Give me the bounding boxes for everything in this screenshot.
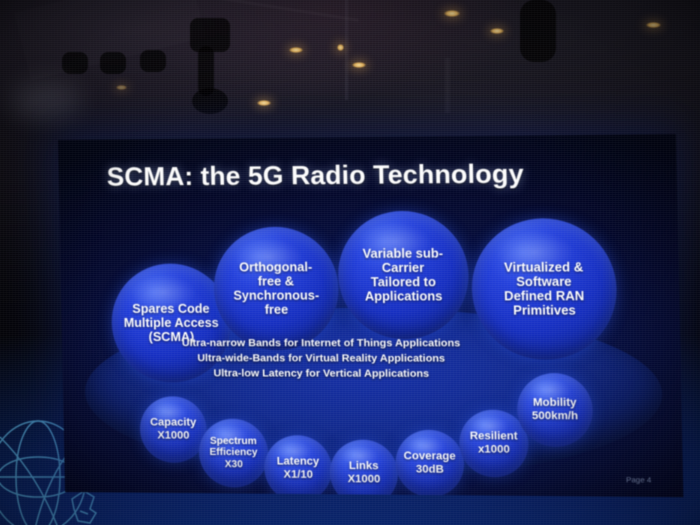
bubble-mobility[interactable]: Mobility 500km/h	[516, 373, 593, 447]
bubble-label: Links X1000	[340, 460, 388, 486]
bubble-virtualized-software-defined-ran[interactable]: Virtualized & Software Defined RAN Primi…	[470, 218, 618, 360]
center-applications-text: Ultra-narrow Bands for Internet of Thing…	[152, 336, 491, 383]
bubble-label: Virtualized & Software Defined RAN Primi…	[496, 260, 592, 319]
bubble-label: Mobility 500km/h	[524, 397, 585, 423]
bubble-capacity[interactable]: Capacity X1000	[139, 396, 207, 463]
bubble-coverage[interactable]: Coverage 30dB	[395, 430, 465, 497]
bubble-label: Resilient x1000	[462, 431, 525, 457]
slide-page-number: Page 4	[626, 475, 651, 484]
center-text-line-2: Ultra-wide-Bands for Virtual Reality App…	[153, 351, 492, 367]
bubble-label: Coverage 30dB	[396, 451, 463, 477]
center-text-line-3: Ultra-low Latency for Vertical Applicati…	[153, 367, 492, 383]
center-text-line-1: Ultra-narrow Bands for Internet of Thing…	[152, 336, 491, 352]
bubble-variable-subcarrier[interactable]: Variable sub- Carrier Tailored to Applic…	[337, 211, 470, 340]
bubble-label: Spectrum Efficiency X30	[202, 436, 265, 471]
projected-slide: SCMA: the 5G Radio Technology Spares Cod…	[58, 134, 683, 497]
slide-title: SCMA: the 5G Radio Technology	[106, 158, 524, 193]
bubble-label: Latency X1/10	[269, 456, 326, 482]
bubble-spectrum-efficiency[interactable]: Spectrum Efficiency X30	[198, 419, 268, 488]
bubble-label: Variable sub- Carrier Tailored to Applic…	[355, 246, 451, 304]
bubble-label: Capacity X1000	[143, 417, 204, 443]
bubble-orthogonal-free[interactable]: Orthogonal- free & Synchronous- free	[213, 227, 340, 351]
conference-slide-photo: SCMA: the 5G Radio Technology Spares Cod…	[0, 0, 700, 525]
bubble-label: Orthogonal- free & Synchronous- free	[226, 260, 327, 318]
